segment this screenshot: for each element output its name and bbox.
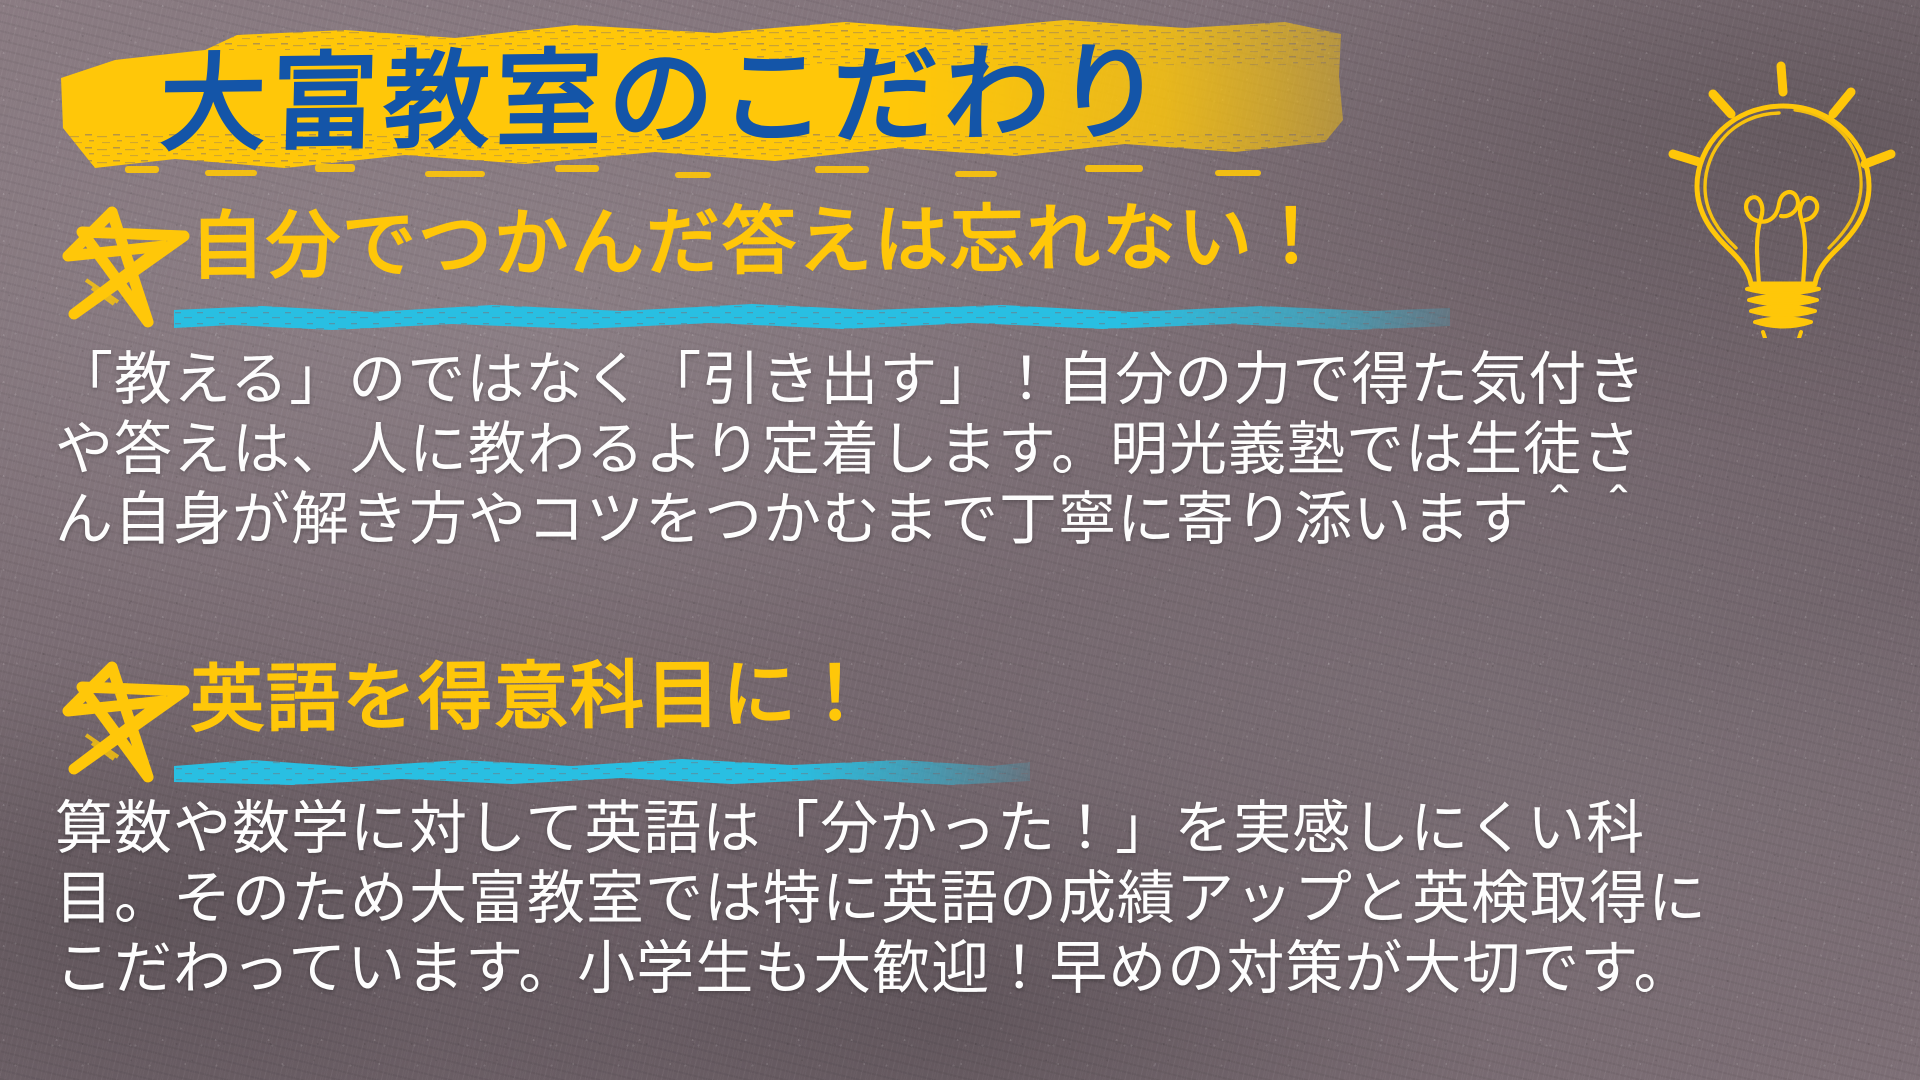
section-1-body: 「教える」のではなく「引き出す」！自分の力で得た気付き や答えは、人に教わるより… [0, 344, 1920, 554]
section-2-heading: 英語を得意科目に！ [190, 656, 875, 740]
star-icon [52, 206, 192, 328]
section-1-heading-row: 自分でつかんだ答えは忘れない！ [0, 200, 1920, 328]
section-1: 自分でつかんだ答えは忘れない！ [0, 200, 1920, 554]
section-1-underline [172, 300, 1452, 334]
star-icon [52, 661, 192, 783]
section-2-body: 算数や数学に対して英語は「分かった！」を実感しにくい科 目。そのため大富教室では… [0, 793, 1920, 1003]
section-2: 英語を得意科目に！ [0, 655, 1920, 1003]
header: 大富教室のこだわり [0, 0, 1920, 210]
section-2-underline [172, 755, 1032, 789]
section-1-heading: 自分でつかんだ答えは忘れない！ [190, 199, 1331, 287]
page-title: 大富教室のこだわり [158, 15, 1342, 181]
poster-canvas: 大富教室のこだわり [0, 0, 1920, 1080]
section-2-heading-row: 英語を得意科目に！ [0, 655, 1920, 783]
